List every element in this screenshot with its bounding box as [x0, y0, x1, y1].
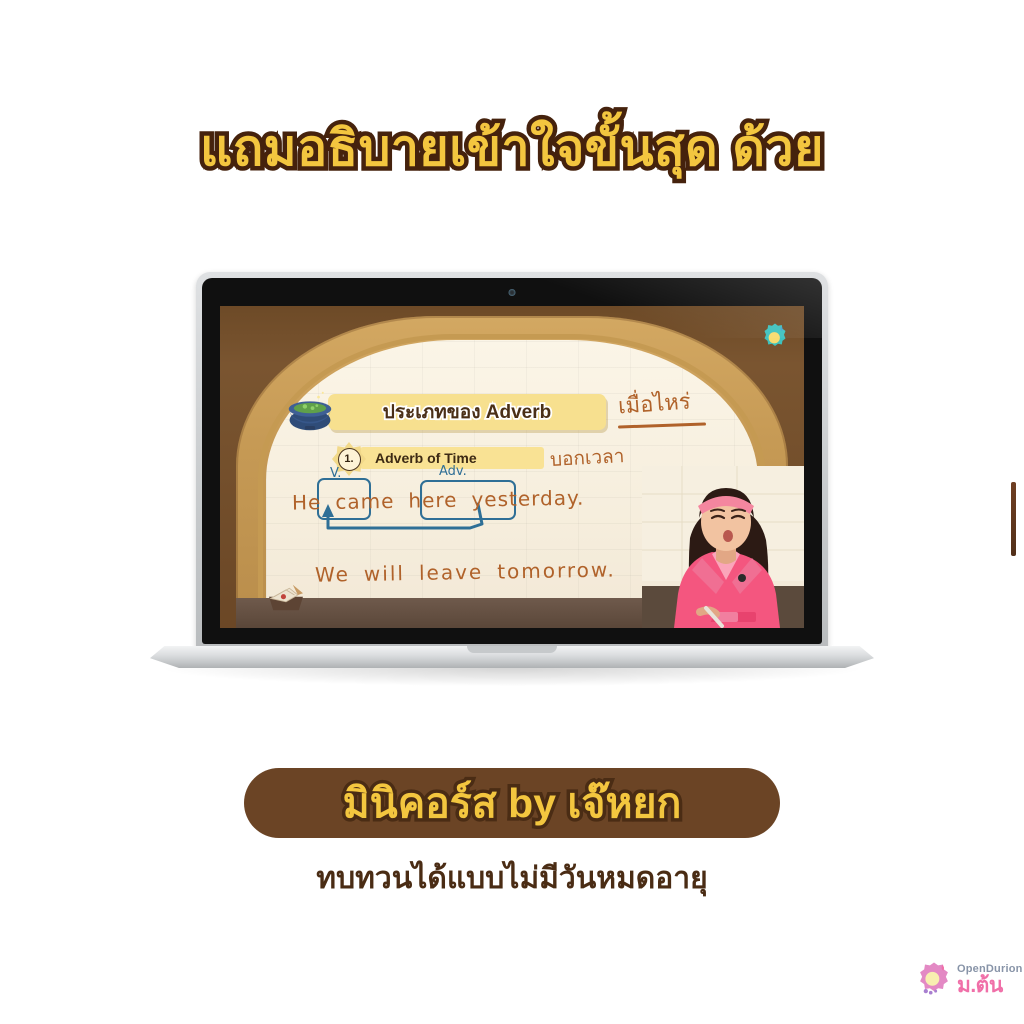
- handwritten-meaning-note: บอกเวลา: [549, 441, 625, 475]
- opendurion-flower-icon: [916, 960, 952, 1001]
- adverb-label: Adv.: [439, 464, 467, 479]
- edge-decoration: [1011, 482, 1016, 556]
- lesson-slide: ประเภทของ Adverb 1. Adverb of Time บอกเว…: [220, 306, 804, 628]
- handwritten-question-note: เมื่อไหร่: [617, 384, 692, 424]
- sentence1-word-3: yesterday.: [471, 486, 584, 512]
- verb-label: V.: [330, 466, 341, 481]
- cauldron-icon: [284, 386, 336, 432]
- sentence1-word-2: here: [408, 488, 457, 513]
- sentence2-word-0: We: [315, 562, 350, 587]
- video-screen[interactable]: ประเภทของ Adverb 1. Adverb of Time บอกเว…: [220, 306, 804, 628]
- laptop-lid: ประเภทของ Adverb 1. Adverb of Time บอกเว…: [196, 272, 828, 650]
- webcam-dot-icon: [509, 289, 516, 296]
- sentence2-word-3: tomorrow.: [497, 557, 616, 583]
- sentence2-word-1: will: [364, 561, 405, 586]
- letter-basket-icon: [260, 578, 312, 612]
- corner-logo-sub: ม.ต้น: [957, 975, 1023, 996]
- item-number-label: 1.: [344, 454, 353, 465]
- opendurion-corner-logo: OpenDurion ม.ต้น: [916, 952, 1012, 1008]
- sentence1-word-0: He: [292, 490, 322, 515]
- sentence1-word-1: came: [335, 489, 394, 514]
- laptop-drop-shadow: [166, 668, 858, 686]
- sentence2-word-2: leave: [419, 560, 484, 585]
- slide-title-text: ประเภทของ Adverb: [383, 397, 551, 427]
- laptop-mockup: ประเภทของ Adverb 1. Adverb of Time บอกเว…: [196, 272, 828, 672]
- slide-title-banner: ประเภทของ Adverb: [328, 394, 606, 430]
- opendurion-gear-icon: [760, 322, 790, 352]
- cta-pill-label: มินิคอร์ส by เจ๊หยก: [0, 770, 1024, 836]
- laptop-base-notch: [467, 646, 557, 653]
- corner-logo-text: OpenDurion ม.ต้น: [957, 964, 1023, 996]
- laptop-bezel: ประเภทของ Adverb 1. Adverb of Time บอกเว…: [202, 278, 822, 644]
- page-headline: แถมอธิบายเข้าใจขั้นสุด ด้วย: [0, 118, 1024, 178]
- instructor-video-inset: [642, 466, 804, 628]
- cta-subtitle: ทบทวนได้แบบไม่มีวันหมดอายุ: [0, 855, 1024, 902]
